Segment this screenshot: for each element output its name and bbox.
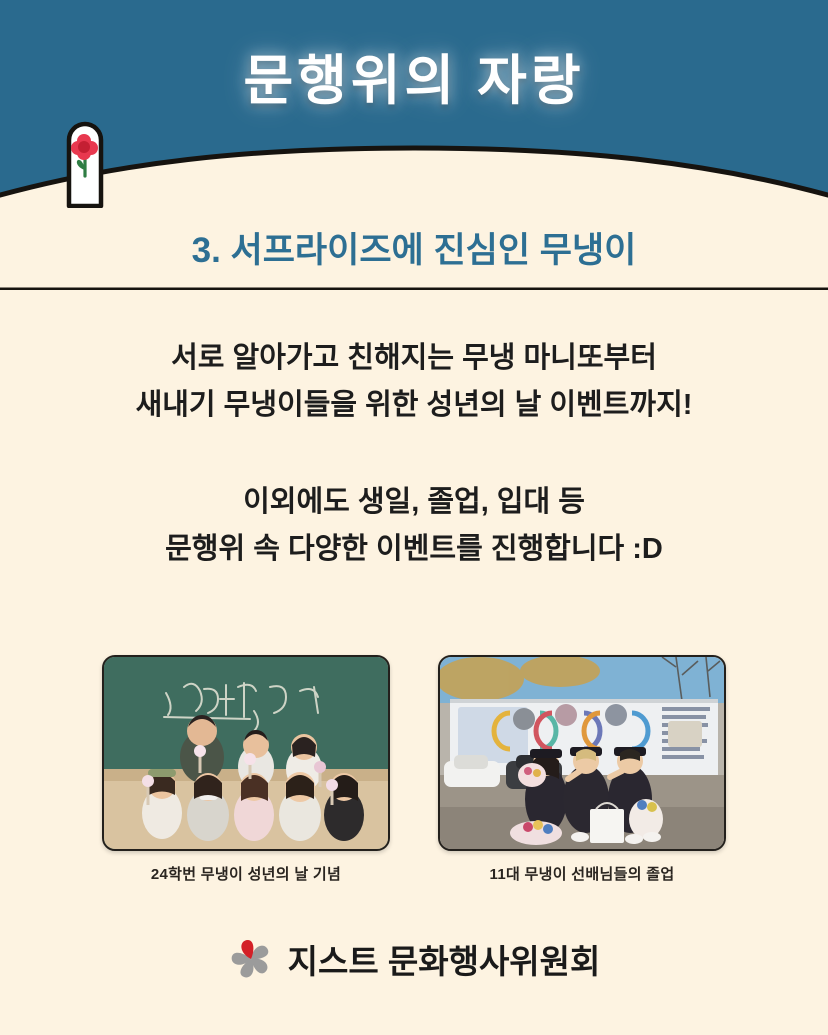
photo-chalkboard-group bbox=[102, 655, 390, 851]
body-line: 서로 알아가고 친해지는 무냉 마니또부터 bbox=[0, 335, 828, 382]
photo-item: 24학번 무냉이 성년의 날 기념 bbox=[104, 655, 388, 884]
photo-graduation-group bbox=[438, 655, 726, 851]
main-content: 3. 서프라이즈에 진심인 무냉이 서로 알아가고 친해지는 무냉 마니또부터 … bbox=[0, 210, 828, 573]
photo-caption: 24학번 무냉이 성년의 날 기념 bbox=[151, 863, 341, 884]
body-line: 문행위 속 다양한 이벤트를 진행합니다 :D bbox=[0, 526, 828, 573]
poster-card: 문행위의 자랑 3. 서프라이즈에 진심인 무냉이 서로 알아가고 친해지는 bbox=[0, 0, 828, 1035]
flower-signpost-icon bbox=[63, 118, 107, 208]
paragraph-1: 서로 알아가고 친해지는 무냉 마니또부터 새내기 무냉이들을 위한 성년의 날… bbox=[0, 335, 828, 429]
organization-name: 지스트 문화행사위원회 bbox=[288, 935, 601, 983]
photo-gallery: 24학번 무냉이 성년의 날 기념 bbox=[0, 655, 828, 884]
photo-item: 11대 무냉이 선배님들의 졸업 bbox=[440, 655, 724, 884]
body-line: 이외에도 생일, 졸업, 입대 등 bbox=[0, 479, 828, 526]
photo-caption: 11대 무냉이 선배님들의 졸업 bbox=[490, 863, 675, 884]
section-title: 3. 서프라이즈에 진심인 무냉이 bbox=[0, 222, 828, 273]
gist-pinwheel-logo-icon bbox=[228, 936, 274, 982]
paragraph-2: 이외에도 생일, 졸업, 입대 등 문행위 속 다양한 이벤트를 진행합니다 :… bbox=[0, 479, 828, 573]
body-text-block: 서로 알아가고 친해지는 무냉 마니또부터 새내기 무냉이들을 위한 성년의 날… bbox=[0, 335, 828, 573]
page-title: 문행위의 자랑 bbox=[0, 36, 828, 115]
header-band: 문행위의 자랑 bbox=[0, 0, 828, 215]
footer: 지스트 문화행사위원회 bbox=[0, 935, 828, 983]
body-line: 새내기 무냉이들을 위한 성년의 날 이벤트까지! bbox=[0, 382, 828, 429]
